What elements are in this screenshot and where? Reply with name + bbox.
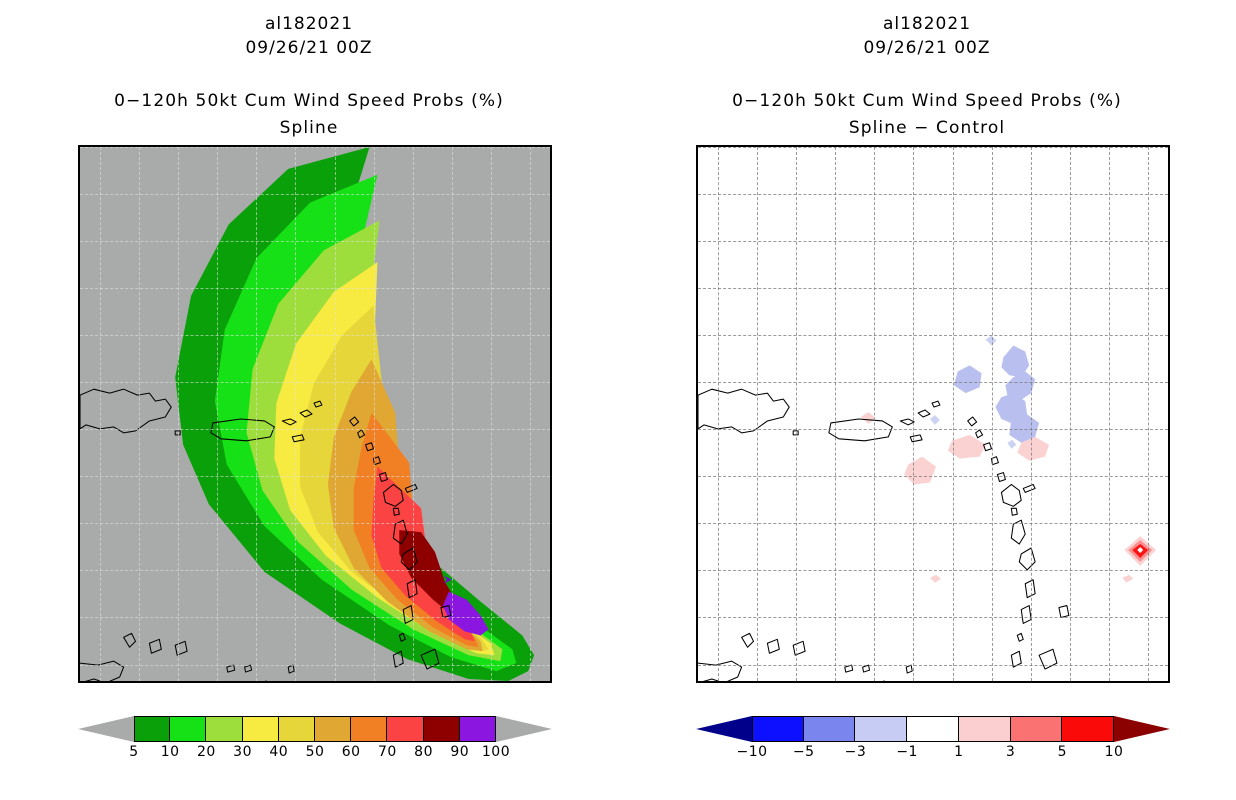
gridline-vertical bbox=[1109, 147, 1110, 681]
gridline-horizontal bbox=[698, 570, 1168, 571]
gridline-horizontal bbox=[80, 147, 550, 148]
x-axis-tick bbox=[757, 681, 758, 683]
y-axis-tick bbox=[78, 241, 80, 242]
y-axis-tick bbox=[78, 288, 80, 289]
y-axis-tick bbox=[696, 523, 698, 524]
x-axis-tick bbox=[452, 681, 453, 683]
colorbar-segment bbox=[907, 716, 959, 742]
colorbar-segment bbox=[424, 716, 460, 742]
colorbar-tick-label: 10 bbox=[161, 744, 180, 760]
gridline-horizontal bbox=[698, 523, 1168, 524]
gridline-vertical bbox=[953, 147, 954, 681]
x-axis-tick bbox=[217, 681, 218, 683]
y-axis-tick bbox=[696, 147, 698, 148]
gridline-vertical bbox=[217, 147, 218, 681]
colorbar-segment bbox=[279, 716, 315, 742]
x-axis-tick bbox=[413, 681, 414, 683]
panel-left-subtitle: Spline bbox=[0, 118, 618, 138]
gridline-vertical bbox=[874, 147, 875, 681]
colorbar-cap-low bbox=[78, 716, 134, 742]
gridline-vertical bbox=[835, 147, 836, 681]
x-axis-tick bbox=[100, 681, 101, 683]
gridline-vertical bbox=[178, 147, 179, 681]
gridline-vertical bbox=[100, 147, 101, 681]
y-axis-tick bbox=[78, 617, 80, 618]
colorbar-tick-label: 1 bbox=[954, 744, 963, 760]
colorbar-tick-label: −5 bbox=[793, 744, 815, 760]
gridline-vertical bbox=[374, 147, 375, 681]
colorbar-tick-label: −1 bbox=[896, 744, 918, 760]
coastlines-left bbox=[80, 147, 550, 681]
gridline-vertical bbox=[530, 147, 531, 681]
x-axis-tick bbox=[178, 681, 179, 683]
colorbar-probability: 5102030405060708090100 bbox=[0, 716, 618, 770]
x-axis-tick bbox=[913, 681, 914, 683]
gridline-vertical bbox=[256, 147, 257, 681]
x-axis-tick bbox=[256, 681, 257, 683]
gridline-horizontal bbox=[80, 429, 550, 430]
gridline-vertical bbox=[335, 147, 336, 681]
gridline-horizontal bbox=[80, 665, 550, 666]
y-axis-tick bbox=[696, 665, 698, 666]
x-axis-tick bbox=[718, 681, 719, 683]
y-axis-tick bbox=[696, 241, 698, 242]
x-axis-tick bbox=[992, 681, 993, 683]
colorbar-segment bbox=[855, 716, 907, 742]
y-axis-tick bbox=[78, 476, 80, 477]
colorbar-tick-label: 10 bbox=[1105, 744, 1124, 760]
coastlines-right bbox=[698, 147, 1168, 681]
y-axis-tick bbox=[696, 288, 698, 289]
gridline-horizontal bbox=[80, 194, 550, 195]
colorbar-tick-label: 5 bbox=[129, 744, 138, 760]
panel-right-storm-id: al182021 bbox=[618, 14, 1236, 34]
colorbar-tick-label: −3 bbox=[845, 744, 867, 760]
gridline-vertical bbox=[1148, 147, 1149, 681]
y-axis-tick bbox=[78, 147, 80, 148]
colorbar-tick-label: 60 bbox=[342, 744, 361, 760]
x-axis-tick bbox=[295, 681, 296, 683]
gridline-horizontal bbox=[698, 147, 1168, 148]
gridline-horizontal bbox=[80, 288, 550, 289]
gridline-horizontal bbox=[698, 429, 1168, 430]
gridline-vertical bbox=[139, 147, 140, 681]
colorbar-difference: −10−5−3−113510 bbox=[618, 716, 1236, 770]
colorbar-cap-high bbox=[496, 716, 552, 742]
x-axis-tick bbox=[1070, 681, 1071, 683]
colorbar-cap-high bbox=[1114, 716, 1170, 742]
y-axis-tick bbox=[696, 194, 698, 195]
gridline-vertical bbox=[491, 147, 492, 681]
gridline-horizontal bbox=[698, 617, 1168, 618]
colorbar-segment bbox=[959, 716, 1011, 742]
gridline-horizontal bbox=[80, 476, 550, 477]
y-axis-tick bbox=[78, 570, 80, 571]
y-axis-tick bbox=[78, 194, 80, 195]
colorbar-tick-label: 30 bbox=[233, 744, 252, 760]
colorbar-tick-label: 50 bbox=[306, 744, 325, 760]
colorbar-segment bbox=[387, 716, 423, 742]
gridline-horizontal bbox=[80, 382, 550, 383]
colorbar-segment bbox=[804, 716, 856, 742]
colorbar-segment bbox=[351, 716, 387, 742]
colorbar-tick-label: 70 bbox=[378, 744, 397, 760]
gridline-horizontal bbox=[698, 194, 1168, 195]
x-axis-tick bbox=[796, 681, 797, 683]
gridline-vertical bbox=[992, 147, 993, 681]
y-axis-tick bbox=[696, 617, 698, 618]
panel-left-title: 0−120h 50kt Cum Wind Speed Probs (%) bbox=[0, 91, 618, 111]
panel-right-title: 0−120h 50kt Cum Wind Speed Probs (%) bbox=[618, 91, 1236, 111]
x-axis-tick bbox=[1109, 681, 1110, 683]
x-axis-tick bbox=[530, 681, 531, 683]
colorbar-segment bbox=[1062, 716, 1114, 742]
panel-spline-minus-control: al182021 09/26/21 00Z 0−120h 50kt Cum Wi… bbox=[618, 0, 1236, 800]
y-axis-tick bbox=[696, 429, 698, 430]
colorbar-segment bbox=[206, 716, 242, 742]
x-axis-tick bbox=[374, 681, 375, 683]
y-axis-tick bbox=[696, 570, 698, 571]
colorbar-segment bbox=[460, 716, 496, 742]
y-axis-tick bbox=[696, 335, 698, 336]
gridline-horizontal bbox=[698, 382, 1168, 383]
colorbar-tick-label: 5 bbox=[1058, 744, 1067, 760]
x-axis-tick bbox=[491, 681, 492, 683]
colorbar-segment bbox=[134, 716, 170, 742]
x-axis-tick bbox=[335, 681, 336, 683]
gridline-horizontal bbox=[698, 665, 1168, 666]
y-axis-tick bbox=[78, 335, 80, 336]
gridline-vertical bbox=[718, 147, 719, 681]
colorbar-segment bbox=[752, 716, 804, 742]
gridline-horizontal bbox=[80, 570, 550, 571]
map-plot-spline: 70W68W66W64W62W60W58W56W54W52W50W48W10N1… bbox=[78, 145, 552, 683]
x-axis-tick bbox=[953, 681, 954, 683]
panel-spline: al182021 09/26/21 00Z 0−120h 50kt Cum Wi… bbox=[0, 0, 618, 800]
x-axis-tick bbox=[874, 681, 875, 683]
gridline-horizontal bbox=[80, 241, 550, 242]
colorbar-segment bbox=[170, 716, 206, 742]
colorbar-tick-label: 80 bbox=[414, 744, 433, 760]
colorbar-tick-label: 90 bbox=[450, 744, 469, 760]
gridline-vertical bbox=[413, 147, 414, 681]
x-axis-tick bbox=[139, 681, 140, 683]
y-axis-tick bbox=[78, 382, 80, 383]
colorbar-segment bbox=[243, 716, 279, 742]
y-axis-tick bbox=[696, 382, 698, 383]
x-axis-tick bbox=[835, 681, 836, 683]
colorbar-tick-label: −10 bbox=[736, 744, 767, 760]
gridline-horizontal bbox=[80, 617, 550, 618]
colorbar-tick-label: 40 bbox=[269, 744, 288, 760]
gridline-horizontal bbox=[698, 288, 1168, 289]
gridline-horizontal bbox=[80, 523, 550, 524]
gridline-vertical bbox=[295, 147, 296, 681]
y-axis-tick bbox=[696, 476, 698, 477]
colorbar-segment bbox=[315, 716, 351, 742]
gridline-vertical bbox=[1031, 147, 1032, 681]
colorbar-tick-label: 20 bbox=[197, 744, 216, 760]
figure-root: al182021 09/26/21 00Z 0−120h 50kt Cum Wi… bbox=[0, 0, 1236, 800]
colorbar-tick-label: 3 bbox=[1006, 744, 1015, 760]
gridline-vertical bbox=[452, 147, 453, 681]
gridline-horizontal bbox=[698, 476, 1168, 477]
panel-right-datetime: 09/26/21 00Z bbox=[618, 38, 1236, 58]
x-axis-tick bbox=[1148, 681, 1149, 683]
colorbar-tick-label: 100 bbox=[482, 744, 510, 760]
y-axis-tick bbox=[78, 523, 80, 524]
gridline-horizontal bbox=[80, 335, 550, 336]
gridline-horizontal bbox=[698, 335, 1168, 336]
panel-left-storm-id: al182021 bbox=[0, 14, 618, 34]
gridline-vertical bbox=[913, 147, 914, 681]
y-axis-tick bbox=[78, 429, 80, 430]
gridline-horizontal bbox=[698, 241, 1168, 242]
panel-right-subtitle: Spline − Control bbox=[618, 118, 1236, 138]
x-axis-tick bbox=[1031, 681, 1032, 683]
gridline-vertical bbox=[757, 147, 758, 681]
panel-left-datetime: 09/26/21 00Z bbox=[0, 38, 618, 58]
gridline-vertical bbox=[1070, 147, 1071, 681]
y-axis-tick bbox=[78, 665, 80, 666]
colorbar-cap-low bbox=[696, 716, 752, 742]
map-plot-difference: 70W68W66W64W62W60W58W56W54W52W50W48W10N1… bbox=[696, 145, 1170, 683]
gridline-vertical bbox=[796, 147, 797, 681]
colorbar-segment bbox=[1011, 716, 1063, 742]
